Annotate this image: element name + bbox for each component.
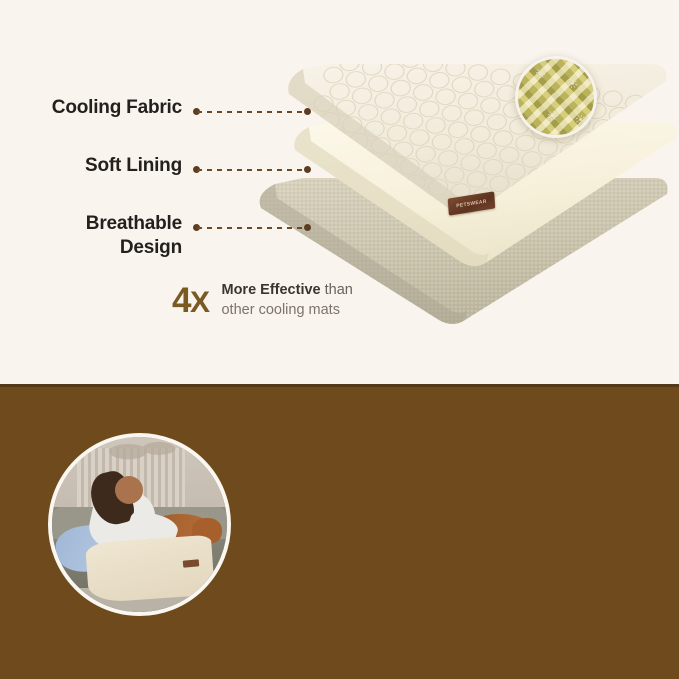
claim-line-1-bold: More Effective [221,282,320,298]
bottom-section: BUILT FOR FORM & FUNCTION Waterproof won… [0,387,679,679]
claim-line-2: other cooling mats [221,301,352,321]
claim-line-1-rest: than [321,282,353,298]
brand-label-text: PETSWEAR [456,198,487,209]
top-section: PETSWEAR Cooling Fabric Soft Lining [0,0,679,386]
feature-labels: Cooling Fabric Soft Lining Breathable De… [0,96,330,284]
claim-multiplier: 4X [172,283,208,318]
effectiveness-claim: 4X More Effective than other cooling mat… [172,281,353,320]
label-row-breathable-design: Breathable Design [0,212,330,284]
product-infographic: PETSWEAR Cooling Fabric Soft Lining [0,0,679,679]
claim-text: More Effective than other cooling mats [221,281,352,320]
label-soft-lining: Soft Lining [0,154,182,178]
quilted-cooling-fabric-top-layer [285,60,679,260]
leader-line-cooling-fabric [193,108,311,115]
fabric-closeup-inset [515,56,597,138]
leader-line-breathable-design [193,224,311,231]
label-cooling-fabric: Cooling Fabric [0,96,182,120]
label-breathable-design: Breathable Design [0,212,182,260]
claim-multiplier-number: 4 [172,281,190,320]
label-row-cooling-fabric: Cooling Fabric [0,96,330,154]
claim-line-1: More Effective than [221,281,352,301]
leader-line-soft-lining [193,166,311,173]
label-row-soft-lining: Soft Lining [0,154,330,212]
lifestyle-photo [48,433,231,616]
claim-multiplier-suffix: X [190,286,209,319]
